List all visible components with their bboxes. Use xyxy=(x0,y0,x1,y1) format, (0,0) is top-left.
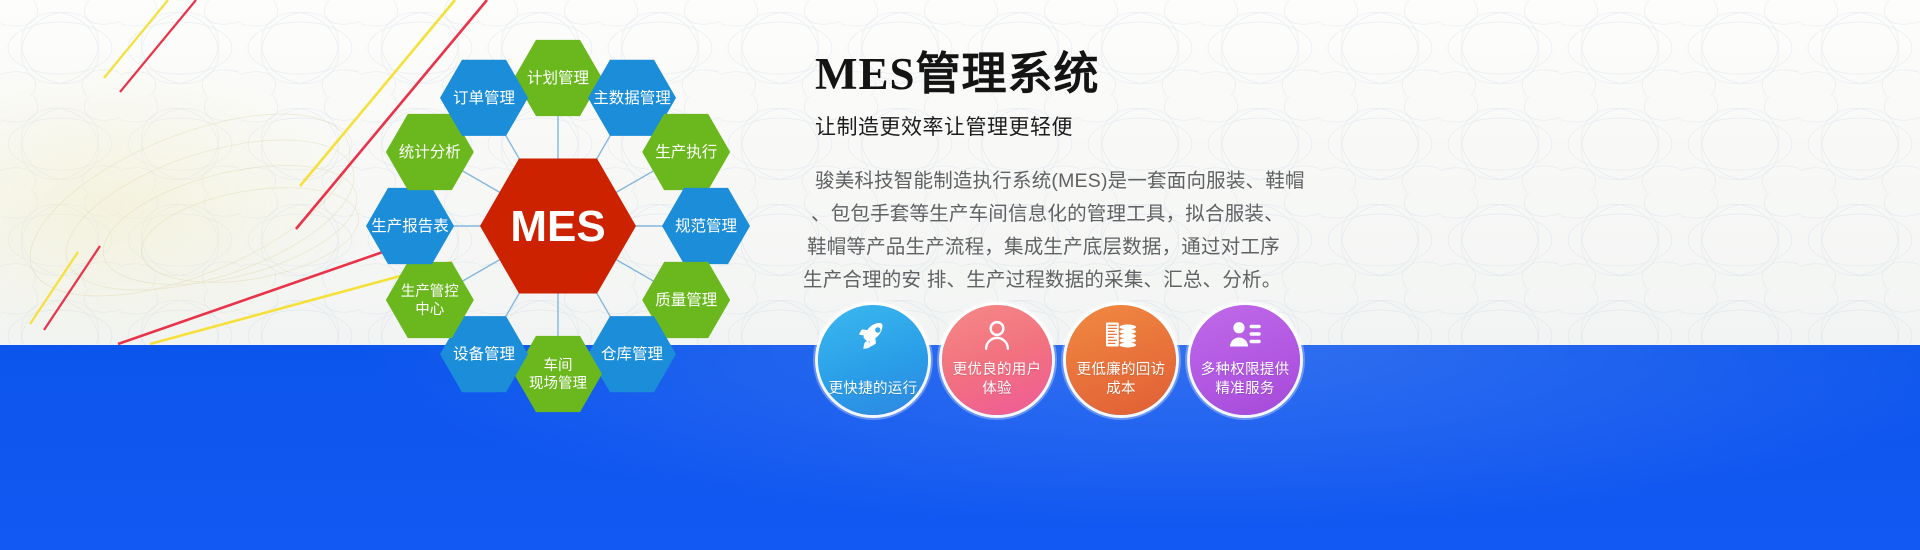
hero-paragraph: 骏美科技智能制造执行系统(MES)是一套面向服装、鞋帽 、包包手套等生产车间信息… xyxy=(815,165,1375,297)
paragraph-line: 、包包手套等生产车间信息化的管理工具，拟合服装、 xyxy=(811,198,1375,231)
hero-text-block: MES管理系统 让制造更效率让管理更轻便 骏美科技智能制造执行系统(MES)是一… xyxy=(815,52,1375,297)
paragraph-line: 生产合理的安 排、生产过程数据的采集、汇总、分析。 xyxy=(803,264,1375,297)
feature-badge-better-experience[interactable]: 更优良的用户 体验 xyxy=(942,305,1052,415)
page-subtitle: 让制造更效率让管理更轻便 xyxy=(815,111,1375,141)
badge-label: 更优良的用户 体验 xyxy=(953,361,1042,399)
hexagon-node-label: 生产执行 xyxy=(655,143,717,161)
paragraph-line: 鞋帽等产品生产流程，集成生产底层数据，通过对工序 xyxy=(807,231,1375,264)
badge-label: 多种权限提供 精准服务 xyxy=(1201,361,1290,399)
hexagon-node-label: 统计分析 xyxy=(399,143,461,161)
mes-hexagon-diagram: 计划管理主数据管理生产执行规范管理质量管理仓库管理车间现场管理设备管理生产管控中… xyxy=(300,14,820,444)
hexagon-node-7[interactable]: 车间现场管理 xyxy=(514,336,602,412)
hexagon-node-label: 质量管理 xyxy=(655,291,717,309)
hexagon-node-label: 规范管理 xyxy=(675,217,737,235)
hexagon-node-label: 生产报告表 xyxy=(371,217,449,235)
hexagon-node-label: 仓库管理 xyxy=(601,345,663,363)
user-icon xyxy=(979,318,1015,354)
hexagon-node-label: 订单管理 xyxy=(453,89,515,107)
hexagon-node-4[interactable]: 规范管理 xyxy=(662,188,750,264)
hexagon-node-10[interactable]: 生产报告表 xyxy=(366,188,454,264)
hexagon-node-1[interactable]: 计划管理 xyxy=(514,40,602,116)
hexagon-node-label: 主数据管理 xyxy=(593,89,671,107)
badge-label: 更低廉的回访 成本 xyxy=(1077,361,1166,399)
hexagon-center-label: MES xyxy=(510,202,605,251)
badge-label: 更快捷的运行 xyxy=(829,380,918,399)
rocket-icon xyxy=(855,318,891,354)
permissions-icon xyxy=(1227,318,1263,354)
hexagon-center-node: MES xyxy=(480,158,636,293)
mes-hero-banner: 计划管理主数据管理生产执行规范管理质量管理仓库管理车间现场管理设备管理生产管控中… xyxy=(0,0,1920,550)
page-title: MES管理系统 xyxy=(815,52,1375,97)
paragraph-line: 骏美科技智能制造执行系统(MES)是一套面向服装、鞋帽 xyxy=(815,165,1375,198)
feature-badge-row: 更快捷的运行 更优良的用户 体验 xyxy=(818,305,1398,415)
hexagon-node-label: 设备管理 xyxy=(453,345,515,363)
feature-badge-lower-cost[interactable]: 更低廉的回访 成本 xyxy=(1066,305,1176,415)
feature-badge-permissions[interactable]: 多种权限提供 精准服务 xyxy=(1190,305,1300,415)
feature-badge-faster-operation[interactable]: 更快捷的运行 xyxy=(818,305,928,415)
hexagon-node-label: 计划管理 xyxy=(527,69,589,87)
money-stack-icon xyxy=(1103,318,1139,354)
